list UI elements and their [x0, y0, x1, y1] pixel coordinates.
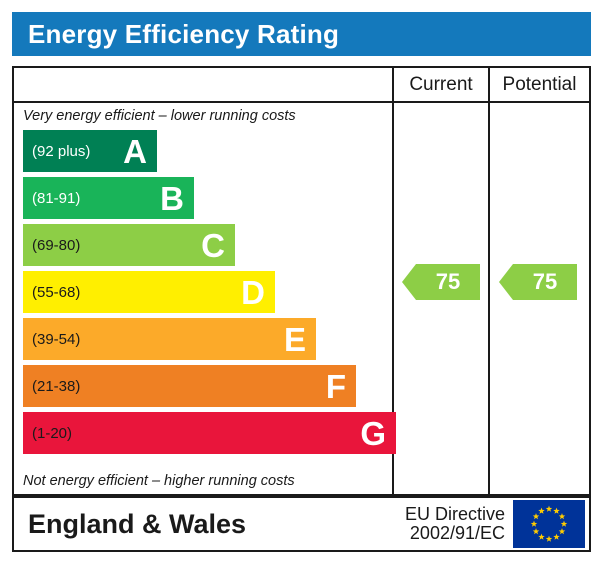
band-letter-a: A — [123, 135, 157, 168]
caption-efficient: Very energy efficient – lower running co… — [23, 105, 296, 127]
band-e: (39-54)E — [23, 318, 316, 360]
band-range-b: (81-91) — [23, 190, 80, 207]
band-letter-e: E — [284, 323, 316, 356]
band-letter-b: B — [160, 182, 194, 215]
band-range-d: (55-68) — [23, 284, 80, 301]
eu-star — [553, 508, 559, 514]
eu-star — [546, 506, 552, 512]
eu-directive-line1: EU Directive — [405, 505, 505, 524]
caption-inefficient: Not energy efficient – higher running co… — [23, 470, 295, 492]
eu-star — [533, 513, 539, 519]
rating-arrow-current: 75 — [402, 264, 480, 300]
eu-star — [561, 521, 567, 527]
header-cell-current: Current — [392, 68, 488, 101]
band-d: (55-68)D — [23, 271, 275, 313]
region-label: England & Wales — [14, 509, 246, 540]
band-letter-c: C — [201, 229, 235, 262]
bands-area: Very energy efficient – lower running co… — [14, 103, 392, 494]
band-letter-d: D — [241, 276, 275, 309]
band-b: (81-91)B — [23, 177, 194, 219]
header-cell-potential: Potential — [488, 68, 589, 101]
band-range-g: (1-20) — [23, 425, 72, 442]
table-header-row: Current Potential — [14, 68, 589, 103]
eu-flag-icon — [513, 500, 585, 548]
band-range-a: (92 plus) — [23, 143, 90, 160]
band-range-e: (39-54) — [23, 331, 80, 348]
band-c: (69-80)C — [23, 224, 235, 266]
eu-star — [546, 536, 552, 542]
eu-directive-label: EU Directive 2002/91/EC — [405, 505, 513, 544]
eu-star — [531, 521, 537, 527]
footer-bar: England & Wales EU Directive 2002/91/EC — [12, 496, 591, 552]
header-cell-blank — [14, 68, 392, 101]
band-f: (21-38)F — [23, 365, 356, 407]
eu-star — [559, 513, 565, 519]
rating-table: Current Potential Very energy efficient … — [12, 66, 591, 496]
title-banner: Energy Efficiency Rating — [12, 12, 591, 56]
band-letter-g: G — [360, 417, 396, 450]
eu-directive-line2: 2002/91/EC — [405, 524, 505, 543]
band-range-c: (69-80) — [23, 237, 80, 254]
rating-arrow-potential: 75 — [499, 264, 577, 300]
eu-star — [559, 528, 565, 534]
eu-star — [538, 508, 544, 514]
band-range-f: (21-38) — [23, 378, 80, 395]
page-title: Energy Efficiency Rating — [12, 19, 339, 50]
epc-certificate: Energy Efficiency Rating Current Potenti… — [0, 0, 603, 564]
band-letter-f: F — [326, 370, 356, 403]
eu-star — [553, 534, 559, 540]
column-divider-potential — [488, 103, 490, 494]
eu-star — [533, 528, 539, 534]
eu-flag-stars — [513, 500, 585, 548]
band-g: (1-20)G — [23, 412, 396, 454]
band-a: (92 plus)A — [23, 130, 157, 172]
eu-star — [538, 534, 544, 540]
